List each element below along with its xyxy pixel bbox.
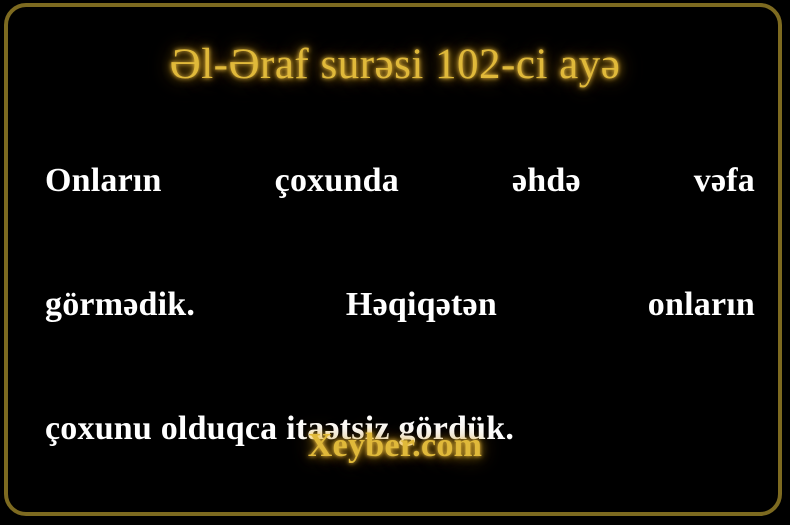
verse-text-block: Onların çoxunda əhdə vəfa görmədik. Həqi… bbox=[45, 150, 755, 460]
verse-card: Əl-Əraf surəsi 102-ci ayə Onların çoxund… bbox=[0, 0, 790, 525]
page-title: Əl-Əraf surəsi 102-ci ayə bbox=[0, 40, 790, 90]
verse-line: Onların çoxunda əhdə vəfa bbox=[45, 150, 755, 274]
verse-line: görmədik. Həqiqətən onların bbox=[45, 274, 755, 398]
site-watermark: Xeyber.com bbox=[0, 424, 790, 468]
